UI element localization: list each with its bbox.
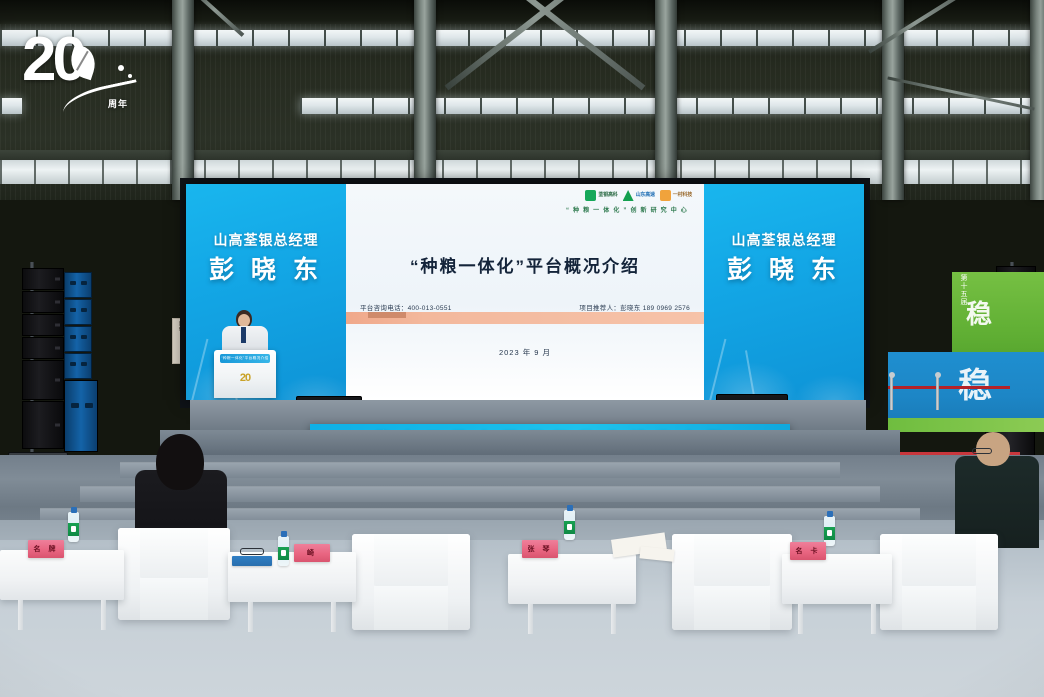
table-leg xyxy=(528,604,533,634)
structural-column-2 xyxy=(414,0,436,200)
audience-sofa-2 xyxy=(352,534,470,630)
anniversary-year-label: 周年 xyxy=(108,97,128,110)
pa-module xyxy=(22,268,64,290)
table-leg xyxy=(798,604,803,634)
podium-anniversary-logo: 20 xyxy=(234,372,256,385)
name-card-1-text: 名 牌 xyxy=(34,544,59,554)
sponsor-logo-highspeed: 山东高速 xyxy=(623,190,655,201)
pa-subwoofer-left xyxy=(64,380,98,452)
booth-sign-blue-footer xyxy=(888,418,1044,432)
sponsor-logo-seed: 荃银高科 xyxy=(585,190,617,201)
table-leg xyxy=(101,600,106,630)
triangle-a-icon xyxy=(623,190,634,201)
name-card-2: 崎 xyxy=(294,544,330,562)
side-table-4 xyxy=(782,554,892,604)
pa-module-blue xyxy=(64,353,92,379)
table-leg xyxy=(871,604,876,634)
podium-banner-strip: “种粮一体化”平台概况介绍 xyxy=(220,354,270,363)
speaker-tie xyxy=(241,327,246,343)
slide-center-subtitle: “ 种 粮 一 体 化 ” 创 新 研 究 中 心 xyxy=(346,205,696,214)
water-bottle-1 xyxy=(68,512,79,542)
pa-module xyxy=(22,291,64,313)
sofa-seat xyxy=(902,586,976,630)
crowd-control-rope xyxy=(888,386,1010,389)
clerestory-window-mid-left xyxy=(0,98,22,114)
pa-line-array-left xyxy=(22,268,64,450)
side-panel-right-name: 彭 晓 东 xyxy=(704,250,864,286)
booth-sign-green-char: 稳 xyxy=(966,294,992,331)
name-card-4: 名 卡 xyxy=(790,542,826,560)
water-bottle-2 xyxy=(278,536,289,566)
podium: “种粮一体化”平台概况介绍 20 xyxy=(214,350,276,398)
slide-title: “种粮一体化”平台概况介绍 xyxy=(346,252,704,277)
name-card-1: 名 牌 xyxy=(28,540,64,558)
structural-column-3 xyxy=(655,0,677,200)
pa-module xyxy=(22,401,64,449)
slide-accent-bar-dark xyxy=(368,312,406,318)
speaker-at-podium: “种粮一体化”平台概况介绍 20 xyxy=(206,300,284,400)
pa-module xyxy=(22,360,64,400)
name-card-3-text: 张 琴 xyxy=(528,544,553,554)
audience-sofa-1 xyxy=(118,528,230,620)
name-card-4-text: 名 卡 xyxy=(796,546,821,556)
sofa-back xyxy=(902,534,976,586)
slide-contact-row: 平台咨询电话：400-013-0551 项目推荐人：彭晓东 189 0969 2… xyxy=(360,302,690,312)
pa-line-array-left-blue xyxy=(64,272,92,380)
sofa-back xyxy=(374,534,448,586)
pa-module-blue xyxy=(64,272,92,298)
audience-sofa-4 xyxy=(880,534,998,630)
table-leg xyxy=(248,602,253,632)
sofa-seat xyxy=(374,586,448,630)
presentation-slide: 荃银高科 山东高速 一村科技 “ 种 粮 一 体 化 ” 创 新 研 究 中 心… xyxy=(346,184,704,400)
name-card-2-text: 崎 xyxy=(307,548,317,558)
audience-person-1-hair xyxy=(156,434,204,490)
name-card-3: 张 琴 xyxy=(522,540,558,558)
led-screen: 山高荃银总经理 彭 晓 东 荃银高科 山东高速 一村科技 “ 种 粮 一 体 化… xyxy=(186,184,864,400)
side-panel-right-title: 山高荃银总经理 xyxy=(704,230,864,250)
stanchion-post-1 xyxy=(890,376,893,410)
water-bottle-3 xyxy=(564,510,575,540)
square-orange-icon xyxy=(660,190,671,201)
sponsor-logo-highspeed-name: 山东高速 xyxy=(636,193,655,199)
slide-contact-referrer: 项目推荐人：彭晓东 189 0969 2576 xyxy=(579,302,690,312)
booth-sign-blue-char: 稳 xyxy=(958,358,992,407)
podium-banner-text: “种粮一体化”平台概况介绍 xyxy=(220,354,270,363)
sofa-back xyxy=(140,528,208,578)
pa-module xyxy=(22,314,64,336)
notebook-on-table xyxy=(232,556,272,566)
audience-sofa-3 xyxy=(672,534,792,630)
anniversary-logo-20th: 20 周年 xyxy=(22,25,142,120)
slide-date: 2023 年 9 月 xyxy=(346,347,704,358)
structural-column-5 xyxy=(1030,0,1044,200)
stanchion-post-2 xyxy=(936,376,939,410)
sofa-seat xyxy=(140,578,208,620)
side-panel-left-title: 山高荃银总经理 xyxy=(186,230,346,250)
eyeglasses-on-table xyxy=(240,548,264,555)
side-table-3 xyxy=(508,554,636,604)
sponsor-logo-yicun-name: 一村科技 xyxy=(673,193,692,199)
slide-logo-row: 荃银高科 山东高速 一村科技 xyxy=(346,190,700,201)
stage-step-1 xyxy=(120,462,840,478)
sponsor-logo-yicun: 一村科技 xyxy=(660,190,692,201)
wheat-graphic-right xyxy=(704,298,864,400)
table-leg xyxy=(18,600,23,630)
booth-sign-blue: 稳 xyxy=(888,352,1044,432)
sofa-back xyxy=(694,534,770,586)
sponsor-logo-seed-name: 荃银高科 xyxy=(598,193,617,199)
pa-module xyxy=(22,337,64,359)
logo-dot-small xyxy=(128,74,132,78)
side-panel-right: 山高荃银总经理 彭 晓 东 xyxy=(704,184,864,400)
conference-photo-scene: 20 周年 展位 介绍 山高荃银总经理 彭 晓 东 荃银高科 山东高速 xyxy=(0,0,1044,697)
side-panel-left-name: 彭 晓 东 xyxy=(186,250,346,286)
logo-dot-large xyxy=(118,65,124,71)
sofa-seat xyxy=(694,586,770,630)
stage-riser xyxy=(160,430,900,456)
table-leg xyxy=(331,602,336,632)
structural-column-1 xyxy=(172,0,194,200)
eyeglasses-icon xyxy=(972,448,992,454)
slide-contact-phone: 平台咨询电话：400-013-0551 xyxy=(360,302,452,312)
pa-module-blue xyxy=(64,326,92,352)
pa-module-blue xyxy=(64,299,92,325)
table-leg xyxy=(611,604,616,634)
seed-leaf-icon xyxy=(585,190,596,201)
